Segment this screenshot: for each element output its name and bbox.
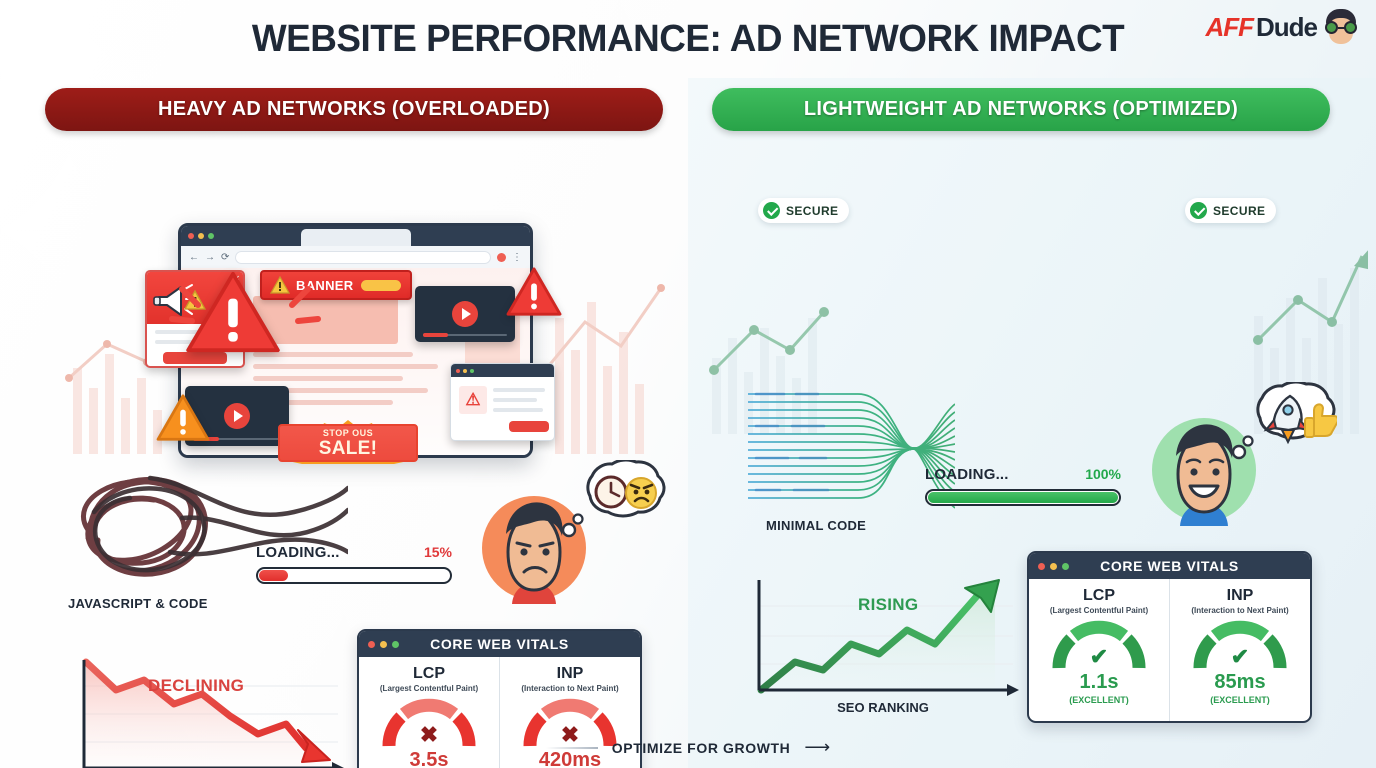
loading-label: LOADING... (256, 544, 340, 561)
vital-gauge-good: ✔ (1192, 620, 1288, 670)
lightweight-panel-banner: LIGHTWEIGHT AD NETWORKS (OPTIMIZED) (712, 88, 1330, 131)
core-web-vitals-card-light: CORE WEB VITALS LCP (Largest Contentful … (1027, 551, 1312, 723)
play-icon[interactable] (452, 301, 478, 327)
vital-fullname: (Largest Contentful Paint) (380, 684, 478, 693)
popup-text-line (493, 408, 543, 412)
vital-name: LCP (413, 665, 445, 683)
vital-value: 85ms (1214, 671, 1265, 694)
secure-badge-right: SECURE (1185, 198, 1276, 223)
arrow-right-icon: ⟶ (804, 737, 830, 758)
streamlined-code-illustration (740, 386, 955, 510)
browser-menu-icon[interactable]: ⋮ (512, 252, 522, 263)
banner-ad-cta-pill[interactable] (361, 280, 401, 291)
window-close-dot[interactable] (188, 233, 194, 239)
avatar-sunglasses-bridge (1338, 27, 1345, 29)
vital-name: LCP (1083, 587, 1115, 605)
loading-progress-light: LOADING... 100% (925, 466, 1121, 506)
popup-cta-button[interactable] (509, 421, 549, 432)
avatar-sunglasses-right (1344, 21, 1357, 34)
happy-user-avatar (1142, 382, 1337, 532)
vital-fullname: (Largest Contentful Paint) (1050, 606, 1148, 615)
popup-titlebar (451, 364, 554, 377)
vital-state: (EXCELLENT) (1069, 695, 1129, 705)
footer-text: OPTIMIZE FOR GROWTH (612, 740, 791, 756)
vital-metric-inp: INP (Interaction to Next Paint) ✔ 85ms (… (1169, 579, 1310, 723)
window-maximize-dot[interactable] (470, 369, 474, 373)
loading-percent: 15% (424, 544, 452, 560)
vital-name: INP (557, 665, 584, 683)
loading-label: LOADING... (925, 466, 1009, 483)
browser-tab[interactable] (301, 229, 411, 246)
secure-badge-label: SECURE (1213, 204, 1265, 218)
browser-titlebar (181, 226, 530, 246)
vital-fullname: (Interaction to Next Paint) (1191, 606, 1288, 615)
frustrated-user-avatar (472, 460, 667, 610)
alert-popup-window[interactable]: ⚠ (450, 363, 555, 441)
popup-text-line (493, 388, 545, 392)
vital-metric-lcp: LCP (Largest Contentful Paint) ✔ 1.1s (E… (1029, 579, 1169, 723)
recording-indicator-icon (497, 253, 506, 262)
progress-track (256, 567, 452, 584)
secure-badge-label: SECURE (786, 204, 838, 218)
heavy-panel-banner: HEAVY AD NETWORKS (OVERLOADED) (45, 88, 663, 131)
popup-text-line (493, 398, 537, 402)
vital-fullname: (Interaction to Next Paint) (521, 684, 618, 693)
check-icon: ✔ (1051, 644, 1147, 670)
vitals-card-title: CORE WEB VITALS (359, 636, 640, 652)
check-circle-icon (763, 202, 780, 219)
seo-trend-label-declining: DECLINING (148, 676, 244, 696)
sale-ad-box[interactable]: STOP OUS SALE! (278, 424, 418, 462)
content-text-line (253, 376, 403, 381)
seo-trend-label-rising: RISING (858, 595, 918, 615)
progress-track (925, 489, 1121, 506)
page-title: WEBSITE PERFORMANCE: AD NETWORK IMPACT (21, 18, 1356, 61)
check-icon: ✔ (1192, 644, 1288, 670)
vital-name: INP (1227, 587, 1254, 605)
loading-progress-heavy: LOADING... 15% (256, 544, 452, 584)
vital-state: (EXCELLENT) (1210, 695, 1270, 705)
aff-dude-avatar-icon (1322, 8, 1360, 46)
angry-face-icon (626, 478, 656, 508)
window-minimize-dot[interactable] (198, 233, 204, 239)
play-icon[interactable] (224, 403, 250, 429)
warning-triangle-icon-red (505, 266, 563, 318)
warning-triangle-icon: ⚠ (459, 386, 487, 414)
secure-badge-left: SECURE (758, 198, 849, 223)
logo-text-dude: Dude (1256, 12, 1317, 43)
footer-rule (546, 747, 598, 749)
vital-gauge-good: ✔ (1051, 620, 1147, 670)
window-maximize-dot[interactable] (208, 233, 214, 239)
javascript-code-label: JAVASCRIPT & CODE (68, 596, 208, 611)
progress-fill (259, 570, 288, 581)
warning-triangle-icon-orange (155, 393, 211, 443)
sale-big-label: SALE! (319, 439, 378, 458)
page-footer: OPTIMIZE FOR GROWTH ⟶ (0, 737, 1376, 758)
minimal-code-label: MINIMAL CODE (766, 518, 866, 533)
page-header: WEBSITE PERFORMANCE: AD NETWORK IMPACT A… (0, 0, 1376, 78)
warning-triangle-icon-large (185, 270, 281, 354)
window-close-dot[interactable] (456, 369, 460, 373)
loading-percent: 100% (1085, 466, 1121, 482)
heavy-ad-panel: HEAVY AD NETWORKS (OVERLOADED) ← (0, 78, 688, 768)
sale-popup-ad[interactable]: STOP OUS SALE! (272, 420, 424, 466)
window-minimize-dot[interactable] (463, 369, 467, 373)
avatar-sunglasses-left (1325, 21, 1338, 34)
vital-value: 1.1s (1080, 671, 1119, 694)
vitals-titlebar: CORE WEB VITALS (359, 631, 640, 657)
video-progress-bar[interactable] (423, 334, 507, 336)
vitals-metrics: LCP (Largest Contentful Paint) ✔ 1.1s (E… (1029, 579, 1310, 723)
vitals-titlebar: CORE WEB VITALS (1029, 553, 1310, 579)
vitals-card-title: CORE WEB VITALS (1029, 558, 1310, 574)
video-ad-popup[interactable] (415, 286, 515, 342)
progress-fill (928, 492, 1118, 503)
check-circle-icon (1190, 202, 1207, 219)
sale-small-label: STOP OUS (323, 429, 373, 438)
lightweight-ad-panel: LIGHTWEIGHT AD NETWORKS (OPTIMIZED) (688, 78, 1376, 768)
logo-text-aff: AFF (1205, 12, 1253, 43)
seo-axis-label-right: SEO RANKING (837, 700, 929, 715)
brand-logo: AFF Dude (1205, 8, 1360, 46)
